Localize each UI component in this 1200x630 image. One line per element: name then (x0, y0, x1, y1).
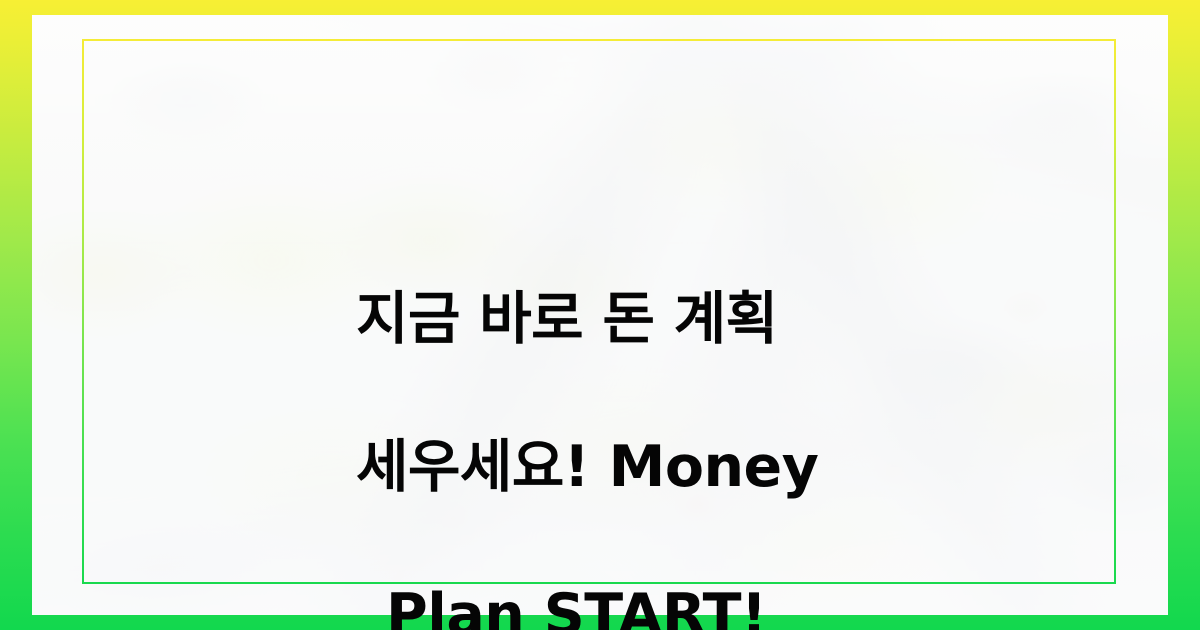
headline: 지금 바로 돈 계획 세우세요! Money Plan START! (356, 208, 876, 630)
headline-line-1: 지금 바로 돈 계획 (356, 282, 876, 356)
promo-banner: 지금 바로 돈 계획 세우세요! Money Plan START! (0, 0, 1200, 630)
headline-line-2: 세우세요! Money (356, 430, 876, 504)
headline-line-3: Plan START! (356, 578, 876, 630)
